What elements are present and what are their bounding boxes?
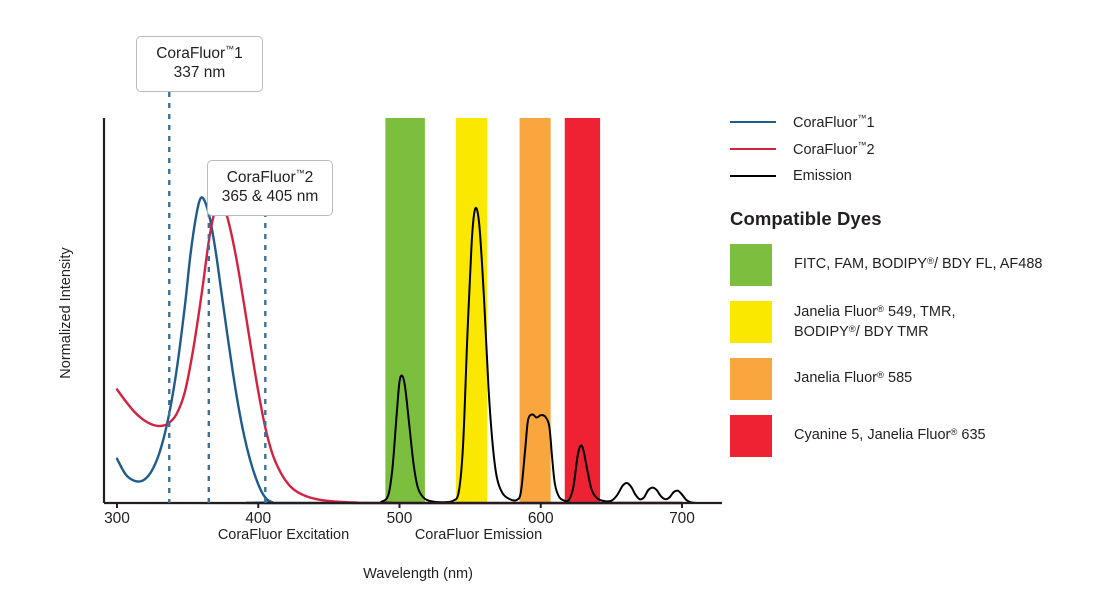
legend-item-label: CoraFluor™1 [793,113,875,131]
dye-label: Janelia Fluor® 549, TMR,BODIPY®/ BDY TMR [794,301,955,342]
legend-line-swatch [730,175,776,177]
legend-line-swatch [730,121,776,123]
orange-band [520,118,551,503]
dye-row: Janelia Fluor® 585 [730,358,1100,402]
compatible-dyes-title: Compatible Dyes [730,208,1100,230]
dye-row: FITC, FAM, BODIPY®/ BDY FL, AF488 [730,244,1100,288]
legend-item-corafluor2: CoraFluor™2 [730,135,1100,162]
x-tick-label-600: 600 [511,510,571,528]
callout-corafluor-1: CoraFluor™1 337 nm [136,36,263,92]
legend-item-corafluor1: CoraFluor™1 [730,108,1100,135]
callout-cf2-line2: 365 & 405 nm [218,188,322,207]
region-label-excitation: CoraFluor Excitation [211,527,356,543]
dye-color-swatch [730,244,772,286]
y-axis-label: Normalized Intensity [58,213,74,413]
x-tick-label-700: 700 [652,510,712,528]
legend-item-label: Emission [793,168,852,184]
legend-item-label: CoraFluor™2 [793,140,875,158]
dye-row: Cyanine 5, Janelia Fluor® 635 [730,415,1100,459]
dye-label: FITC, FAM, BODIPY®/ BDY FL, AF488 [794,244,1042,275]
green-band [385,118,425,503]
region-label-emission: CoraFluor Emission [406,527,551,543]
legend-line-swatch [730,148,776,150]
compatible-dyes-list: FITC, FAM, BODIPY®/ BDY FL, AF488Janelia… [730,244,1100,459]
dye-row: Janelia Fluor® 549, TMR,BODIPY®/ BDY TMR [730,301,1100,345]
callout-cf2-line1: CoraFluor™2 [218,168,322,188]
legend-series-list: CoraFluor™1CoraFluor™2Emission [730,108,1100,189]
yellow-band [456,118,487,503]
legend: CoraFluor™1CoraFluor™2Emission Compatibl… [730,108,1100,472]
x-tick-label-300: 300 [87,510,147,528]
callout-corafluor-2: CoraFluor™2 365 & 405 nm [207,160,333,216]
dye-label: Cyanine 5, Janelia Fluor® 635 [794,415,986,446]
dye-label: Janelia Fluor® 585 [794,358,912,389]
x-tick-label-500: 500 [370,510,430,528]
dye-color-swatch [730,358,772,400]
callout-cf1-line1: CoraFluor™1 [147,44,252,64]
callout-cf1-line2: 337 nm [147,64,252,83]
dye-color-swatch [730,415,772,457]
x-axis-title: Wavelength (nm) [0,566,836,582]
legend-item-emission: Emission [730,162,1100,189]
x-tick-label-400: 400 [228,510,288,528]
dye-color-swatch [730,301,772,343]
fluorescence-spectra-figure: CoraFluor™1 337 nm CoraFluor™2 365 & 405… [0,0,1110,612]
